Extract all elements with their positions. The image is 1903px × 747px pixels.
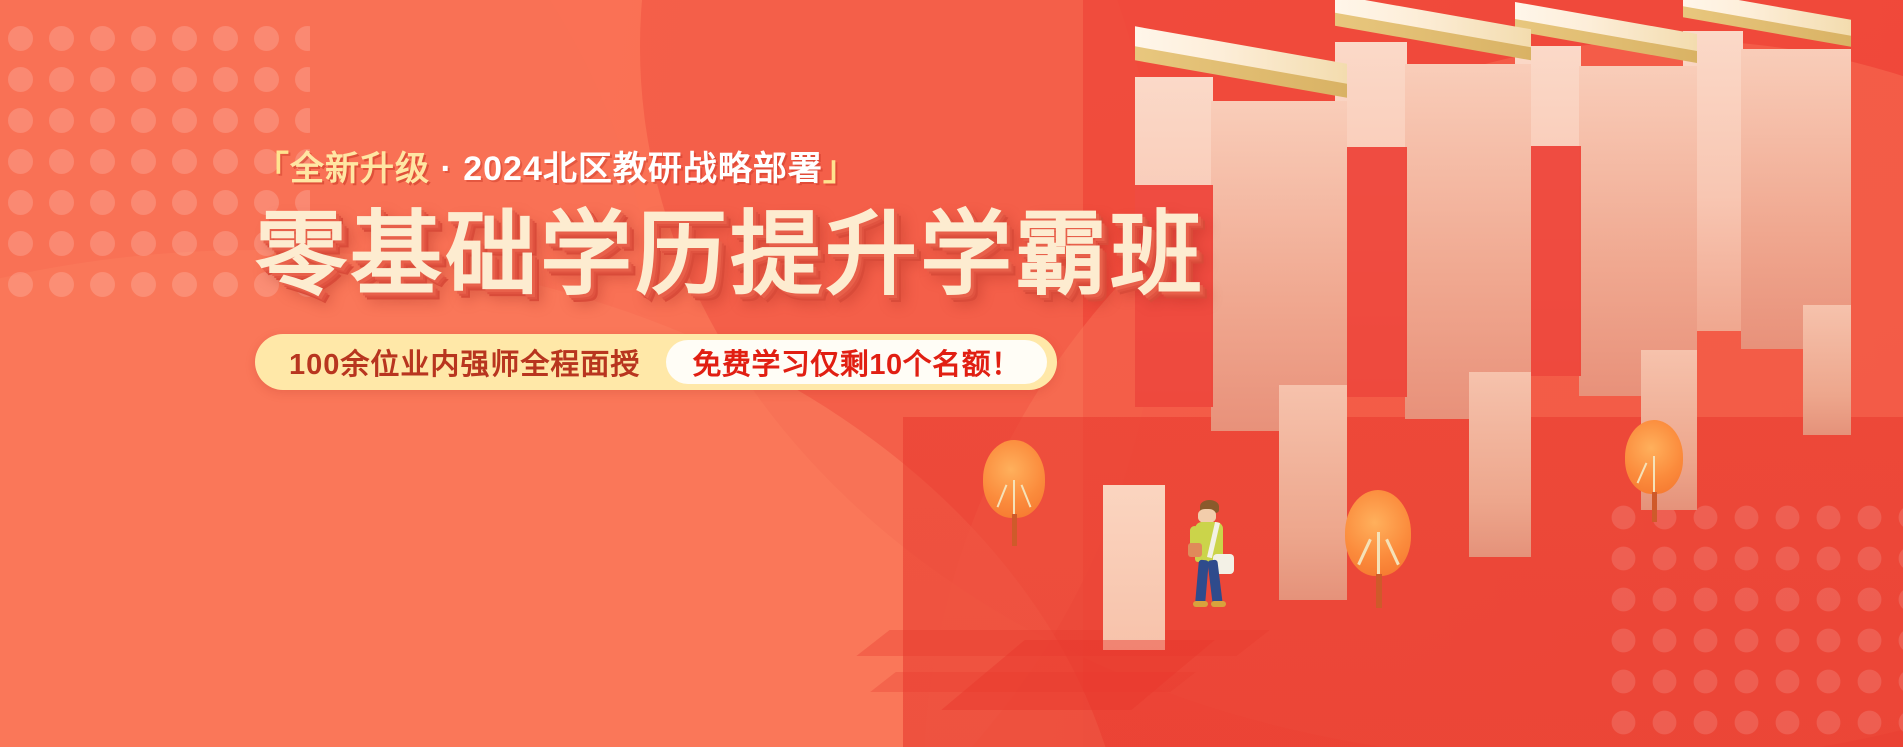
banner-pill-row[interactable]: 100余位业内强师全程面授 免费学习仅剩10个名额！ (255, 334, 1057, 390)
pill-right-badge[interactable]: 免费学习仅剩10个名额！ (666, 340, 1046, 384)
subtitle-separator: · (430, 150, 463, 188)
tree-mid-trunk (1376, 574, 1382, 608)
book-1-side (1211, 101, 1347, 431)
tree-mid-branch-1 (1377, 532, 1380, 576)
tree-left-trunk (1012, 514, 1017, 546)
book-4-leg-right (1803, 305, 1851, 435)
pill-left-label: 100余位业内强师全程面授 (255, 341, 666, 383)
tree-right-trunk (1652, 492, 1657, 522)
figure-held-book (1188, 543, 1202, 557)
book-panel-left (1103, 485, 1165, 650)
subtitle-close-bracket: 」 (823, 150, 858, 188)
figure-shoe-front (1211, 601, 1226, 607)
tree-left (983, 440, 1049, 550)
book-4-side (1741, 49, 1851, 349)
book-1-leg-right (1279, 385, 1347, 600)
tree-right-branch-1 (1653, 456, 1655, 494)
tree-left-branch-1 (1013, 480, 1015, 516)
book-3-side (1579, 66, 1697, 396)
subtitle-open-bracket: 「 (255, 150, 290, 188)
book-2-side (1405, 64, 1531, 419)
student-figure (1189, 500, 1241, 612)
promo-banner: 「全新升级 · 2024北区教研战略部署」 零基础学历提升学霸班 100余位业内… (0, 0, 1903, 747)
banner-headline: 零基础学历提升学霸班 (255, 208, 995, 304)
figure-leg-back (1195, 560, 1209, 605)
subtitle-rest: 2024北区教研战略部署 (463, 150, 823, 188)
tree-mid (1345, 490, 1415, 610)
tree-right (1625, 420, 1687, 528)
banner-subtitle: 「全新升级 · 2024北区教研战略部署」 (255, 152, 995, 186)
figure-face (1198, 509, 1216, 523)
subtitle-highlight: 全新升级 (290, 150, 430, 188)
figure-shoe-back (1193, 601, 1208, 607)
illustration-scene (1083, 0, 1903, 747)
book-2-leg-right (1469, 372, 1531, 557)
banner-copy: 「全新升级 · 2024北区教研战略部署」 零基础学历提升学霸班 100余位业内… (255, 152, 995, 390)
